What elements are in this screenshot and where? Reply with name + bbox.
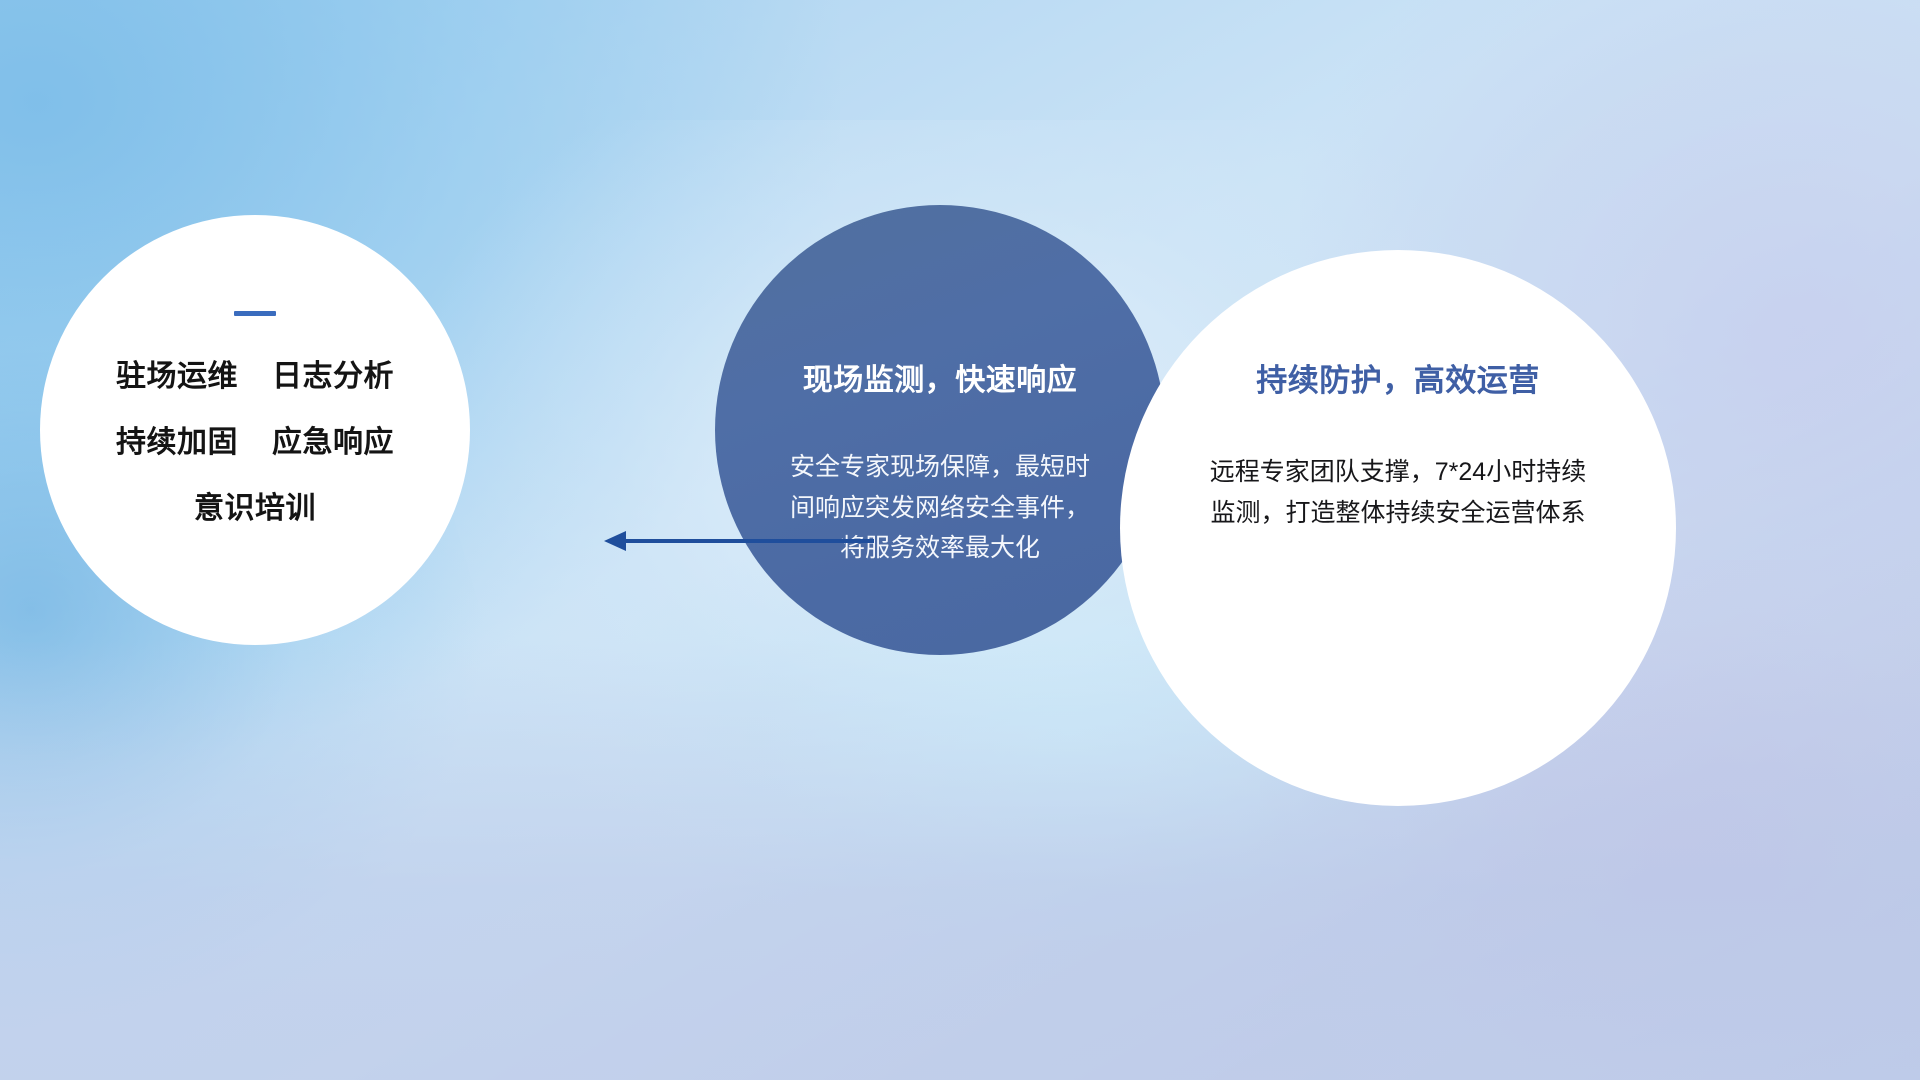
left-circle-row: 意识培训 [194,494,316,524]
left-circle-content: 驻场运维 日志分析 持续加固 应急响应 意识培训 [40,215,470,645]
right-circle-content: 持续防护，高效运营 远程专家团队支撑，7*24小时持续监测，打造整体持续安全运营… [1120,250,1676,806]
right-circle-body: 远程专家团队支撑，7*24小时持续监测，打造整体持续安全运营体系 [1203,452,1593,533]
left-circle-row: 持续加固 应急响应 [116,428,394,458]
left-circle-tag: 应急响应 [272,428,394,458]
slide-canvas: 现场监测，快速响应 安全专家现场保障，最短时间响应突发网络安全事件，将服务效率最… [0,0,1920,1080]
left-circle-row: 驻场运维 日志分析 [116,362,394,392]
left-circle-tag: 日志分析 [272,362,394,392]
right-circle-heading: 持续防护，高效运营 [1256,355,1540,400]
accent-dash-icon [234,311,276,316]
left-circle-tag: 持续加固 [116,428,238,458]
left-circle-tag: 驻场运维 [116,362,238,392]
middle-circle-content: 现场监测，快速响应 安全专家现场保障，最短时间响应突发网络安全事件，将服务效率最… [715,205,1165,655]
left-circle-tag: 意识培训 [194,494,316,524]
flow-arrow-left-icon [596,520,876,562]
middle-circle-heading: 现场监测，快速响应 [803,355,1078,399]
